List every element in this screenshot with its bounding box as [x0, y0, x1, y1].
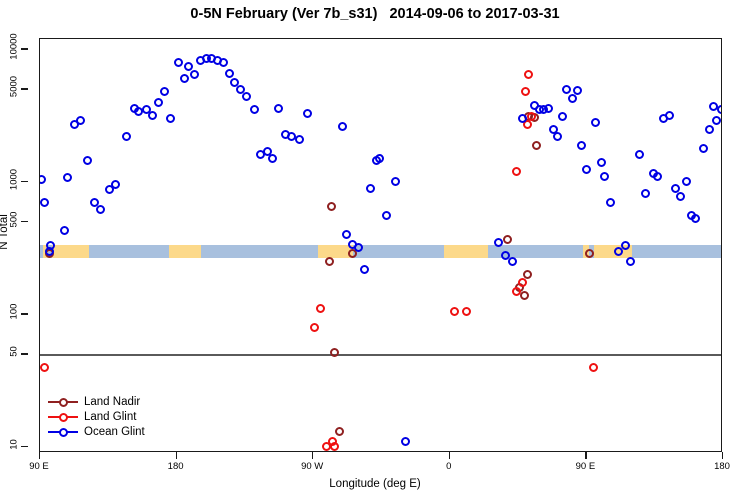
y-tick-label: 1000	[9, 165, 20, 193]
data-point-ocean_glint	[375, 154, 384, 163]
data-point-land_nadir	[532, 141, 541, 150]
data-point-ocean_glint	[676, 192, 685, 201]
x-tick-mark	[312, 452, 313, 459]
y-tick-mark	[21, 446, 28, 447]
y-tick-label: 500	[9, 205, 20, 233]
data-point-ocean_glint	[342, 230, 351, 239]
data-point-ocean_glint	[366, 184, 375, 193]
land-surface-segment	[169, 245, 201, 258]
data-point-ocean_glint	[653, 172, 662, 181]
legend-marker-icon	[48, 410, 78, 423]
data-point-ocean_glint	[122, 132, 131, 141]
x-tick-label: 90 W	[287, 461, 337, 472]
data-point-ocean_glint	[83, 156, 92, 165]
y-tick-mark	[21, 313, 28, 314]
data-point-ocean_glint	[600, 172, 609, 181]
y-tick-mark	[21, 181, 28, 182]
legend-item-land-glint[interactable]: Land Glint	[48, 409, 145, 424]
data-point-ocean_glint	[63, 173, 72, 182]
data-point-ocean_glint	[160, 87, 169, 96]
y-tick-mark	[21, 48, 28, 49]
data-point-land_nadir	[503, 235, 512, 244]
data-point-ocean_glint	[225, 69, 234, 78]
data-point-ocean_glint	[96, 205, 105, 214]
data-point-ocean_glint	[180, 74, 189, 83]
x-tick-label: 0	[424, 461, 474, 472]
data-point-ocean_glint	[250, 105, 259, 114]
data-point-ocean_glint	[154, 98, 163, 107]
data-point-land_glint	[512, 167, 521, 176]
x-tick-label: 90 E	[14, 461, 64, 472]
data-point-ocean_glint	[641, 189, 650, 198]
data-point-land_nadir	[330, 348, 339, 357]
data-point-ocean_glint	[691, 214, 700, 223]
data-point-ocean_glint	[303, 109, 312, 118]
data-point-land_glint	[521, 87, 530, 96]
data-point-ocean_glint	[606, 198, 615, 207]
data-point-ocean_glint	[40, 198, 49, 207]
data-point-ocean_glint	[111, 180, 120, 189]
data-point-land_glint	[524, 70, 533, 79]
data-point-ocean_glint	[582, 165, 591, 174]
legend-marker-icon	[48, 425, 78, 438]
x-tick-mark	[722, 452, 723, 459]
x-tick-mark	[39, 452, 40, 459]
legend-item-land-nadir[interactable]: Land Nadir	[48, 394, 145, 409]
data-point-ocean_glint	[338, 122, 347, 131]
data-point-ocean_glint	[553, 132, 562, 141]
data-point-ocean_glint	[295, 135, 304, 144]
data-point-ocean_glint	[274, 104, 283, 113]
legend-item-label: Ocean Glint	[84, 426, 145, 438]
data-point-land_glint	[462, 307, 471, 316]
legend-item-label: Land Nadir	[84, 396, 140, 408]
data-point-ocean_glint	[76, 116, 85, 125]
data-point-ocean_glint	[699, 144, 708, 153]
reference-line-50	[40, 354, 721, 355]
y-tick-mark	[21, 221, 28, 222]
data-point-land_nadir	[520, 291, 529, 300]
data-point-ocean_glint	[242, 92, 251, 101]
data-point-land_nadir	[327, 202, 336, 211]
data-point-land_glint	[512, 287, 521, 296]
chart-figure: 0-5N February (Ver 7b_s31) 2014-09-06 to…	[0, 0, 750, 500]
land-surface-segment	[444, 245, 488, 258]
data-point-ocean_glint	[562, 85, 571, 94]
data-point-ocean_glint	[401, 437, 410, 446]
data-point-ocean_glint	[184, 62, 193, 71]
x-tick-mark	[585, 452, 586, 459]
data-point-land_glint	[330, 442, 339, 451]
data-point-ocean_glint	[577, 141, 586, 150]
x-tick-label: 90 E	[560, 461, 610, 472]
data-point-land_glint	[518, 278, 527, 287]
data-point-ocean_glint	[268, 154, 277, 163]
y-tick-label: 10000	[9, 33, 20, 61]
data-point-ocean_glint	[382, 211, 391, 220]
x-tick-mark	[176, 452, 177, 459]
data-point-ocean_glint	[148, 111, 157, 120]
data-point-ocean_glint	[635, 150, 644, 159]
data-point-land_nadir	[335, 427, 344, 436]
data-point-ocean_glint	[597, 158, 606, 167]
data-point-ocean_glint	[494, 238, 503, 247]
data-point-ocean_glint	[712, 116, 721, 125]
legend-item-label: Land Glint	[84, 411, 136, 423]
y-tick-mark	[21, 88, 28, 89]
data-point-ocean_glint	[508, 257, 517, 266]
data-point-land_glint	[316, 304, 325, 313]
data-point-ocean_glint	[39, 175, 46, 184]
data-point-ocean_glint	[591, 118, 600, 127]
data-point-ocean_glint	[682, 177, 691, 186]
data-point-ocean_glint	[360, 265, 369, 274]
x-axis-title: Longitude (deg E)	[0, 478, 750, 490]
data-point-ocean_glint	[573, 86, 582, 95]
data-point-ocean_glint	[219, 58, 228, 67]
data-point-ocean_glint	[705, 125, 714, 134]
data-point-ocean_glint	[391, 177, 400, 186]
chart-title: 0-5N February (Ver 7b_s31) 2014-09-06 to…	[0, 6, 750, 22]
x-tick-mark	[449, 452, 450, 459]
plot-area	[39, 38, 722, 452]
data-point-land_glint	[450, 307, 459, 316]
data-point-land_glint	[589, 363, 598, 372]
y-tick-mark	[21, 353, 28, 354]
data-point-land_glint	[40, 363, 49, 372]
data-point-ocean_glint	[60, 226, 69, 235]
land-surface-segment	[52, 245, 88, 258]
y-tick-label: 5000	[9, 73, 20, 101]
data-point-ocean_glint	[544, 104, 553, 113]
data-point-ocean_glint	[166, 114, 175, 123]
data-point-land_glint	[310, 323, 319, 332]
data-point-land_nadir	[325, 257, 334, 266]
data-point-land_nadir	[585, 249, 594, 258]
x-tick-label: 180	[151, 461, 201, 472]
legend-marker-icon	[48, 395, 78, 408]
y-tick-label: 100	[9, 298, 20, 326]
x-tick-label: 180	[697, 461, 747, 472]
legend-item-ocean-glint[interactable]: Ocean Glint	[48, 424, 145, 439]
data-point-ocean_glint	[174, 58, 183, 67]
data-point-ocean_glint	[190, 70, 199, 79]
data-point-ocean_glint	[626, 257, 635, 266]
data-point-ocean_glint	[717, 105, 722, 114]
chart-legend: Land NadirLand GlintOcean Glint	[48, 394, 145, 439]
data-point-ocean_glint	[558, 112, 567, 121]
y-tick-label: 10	[9, 430, 20, 458]
y-tick-label: 50	[9, 338, 20, 366]
data-point-ocean_glint	[665, 111, 674, 120]
